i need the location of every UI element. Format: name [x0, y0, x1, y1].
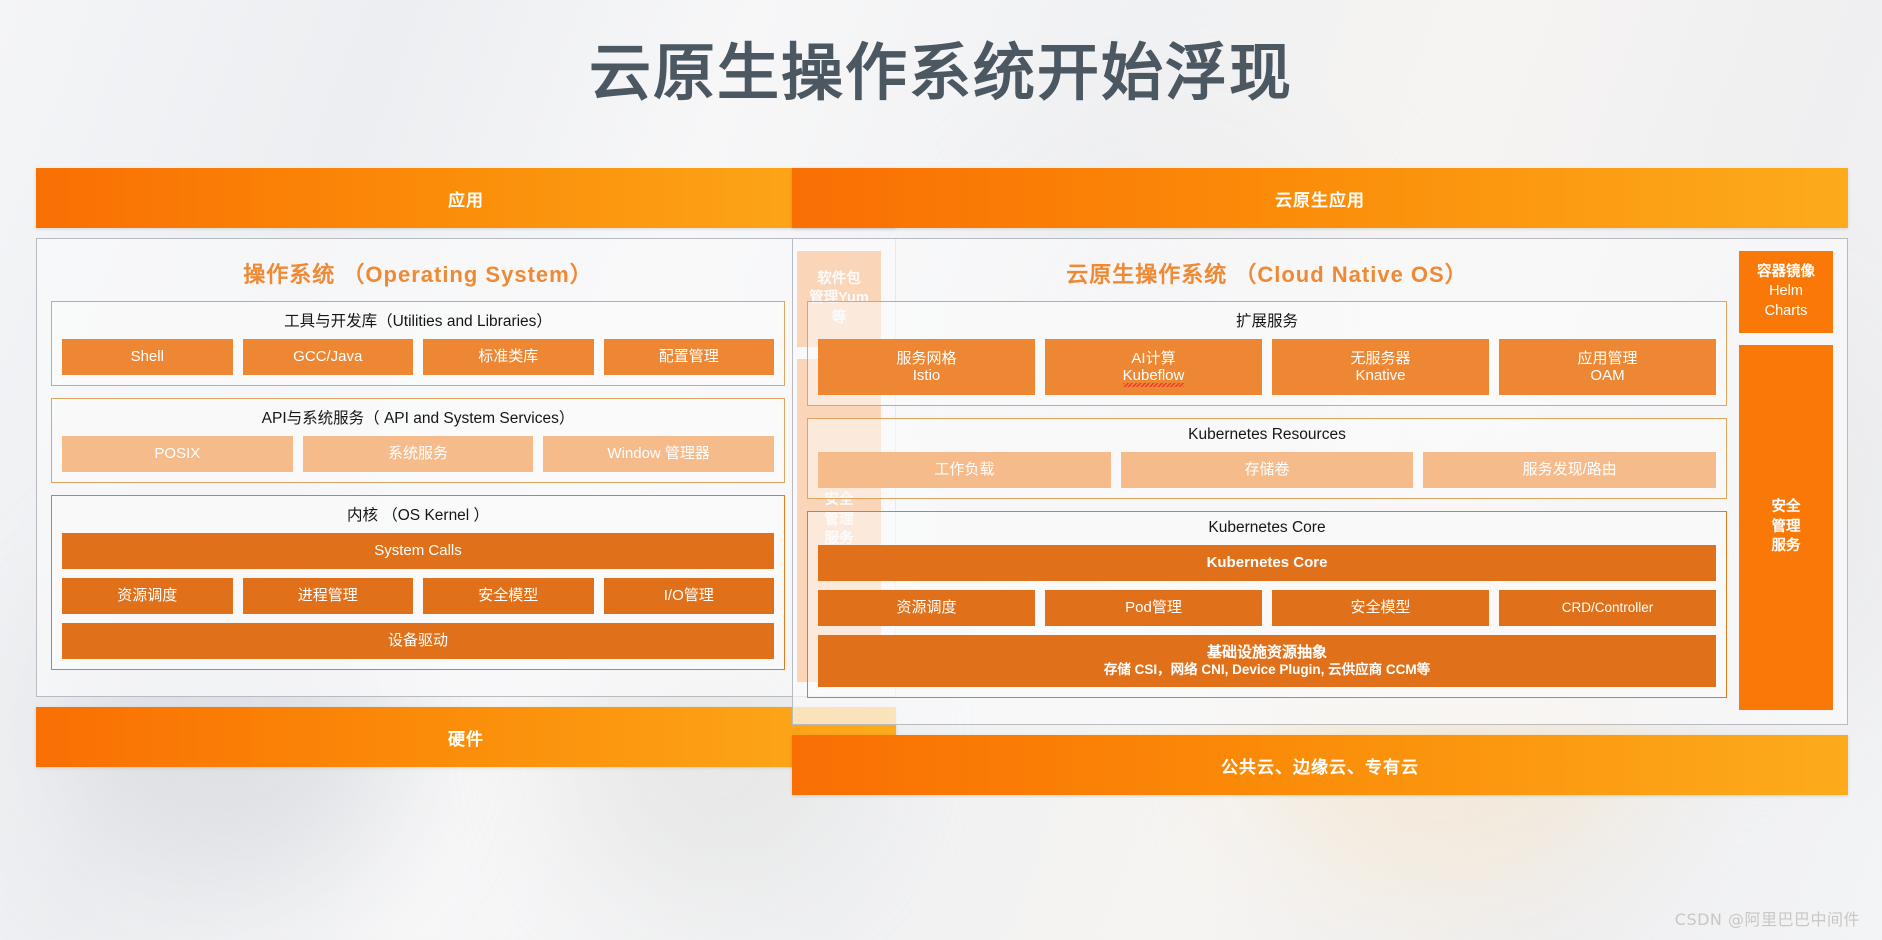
chip-process-management[interactable]: 进程管理 [243, 578, 414, 614]
left-os-container: 操作系统 （Operating System） 工具与开发库（Utilities… [36, 238, 896, 697]
chip-system-calls[interactable]: System Calls [62, 533, 774, 569]
watermark: CSDN @阿里巴巴中间件 [1675, 906, 1860, 930]
left-bottom-bar-label: 硬件 [448, 725, 484, 750]
row-k8s-core-modules: 资源调度 Pod管理 安全模型 CRD/Controller [818, 590, 1716, 626]
chip-infrastructure-resource-abstraction[interactable]: 基础设施资源抽象 存储 CSI，网络 CNI, Device Plugin, 云… [818, 635, 1716, 687]
right-os-main: 云原生操作系统 （Cloud Native OS） 扩展服务 服务网格 Isti… [807, 251, 1727, 710]
right-panel-cloud-native-os: 云原生应用 云原生操作系统 （Cloud Native OS） 扩展服务 服务网… [792, 168, 1848, 795]
chip-system-services[interactable]: 系统服务 [303, 436, 534, 472]
side-box-container-image[interactable]: 容器镜像 Helm Charts [1739, 251, 1833, 333]
side-security-line3-right: 服务 [1772, 537, 1801, 557]
slide-canvas: 云原生操作系统开始浮现 应用 操作系统 （Operating System） 工… [0, 0, 1882, 940]
right-os-heading: 云原生操作系统 （Cloud Native OS） [807, 257, 1727, 289]
left-os-heading: 操作系统 （Operating System） [51, 257, 785, 289]
chip-app-management-line1: 应用管理 [1577, 350, 1637, 367]
chip-io-management[interactable]: I/O管理 [604, 578, 775, 614]
side-image-line3: Charts [1765, 302, 1808, 322]
side-security-line2-right: 管理 [1772, 518, 1801, 538]
chip-serverless-line2: Knative [1355, 367, 1405, 384]
chip-app-management-oam[interactable]: 应用管理 OAM [1499, 339, 1716, 395]
row-utilities: Shell GCC/Java 标准类库 配置管理 [62, 339, 774, 375]
chip-serverless-line1: 无服务器 [1350, 350, 1410, 367]
left-os-main: 操作系统 （Operating System） 工具与开发库（Utilities… [51, 251, 785, 682]
chip-security-model[interactable]: 安全模型 [423, 578, 594, 614]
row-system-calls: System Calls [62, 533, 774, 569]
chip-storage-volume[interactable]: 存储卷 [1121, 452, 1414, 488]
chip-resource-scheduling-k8s[interactable]: 资源调度 [818, 590, 1035, 626]
chip-infra-line2: 存储 CSI，网络 CNI, Device Plugin, 云供应商 CCM等 [1104, 662, 1430, 678]
row-k8s-core-bar: Kubernetes Core [818, 545, 1716, 581]
row-k8s-resources: 工作负载 存储卷 服务发现/路由 [818, 452, 1716, 488]
side-security-line1-right: 安全 [1772, 498, 1801, 518]
chip-resource-scheduling[interactable]: 资源调度 [62, 578, 233, 614]
row-kernel-modules: 资源调度 进程管理 安全模型 I/O管理 [62, 578, 774, 614]
chip-shell[interactable]: Shell [62, 339, 233, 375]
chip-service-mesh-line2: Istio [913, 367, 941, 384]
side-image-line1: 容器镜像 [1757, 263, 1815, 283]
chip-pod-management[interactable]: Pod管理 [1045, 590, 1262, 626]
side-image-line2: Helm [1769, 282, 1803, 302]
chip-device-drivers[interactable]: 设备驱动 [62, 623, 774, 659]
chip-app-management-line2: OAM [1590, 367, 1624, 384]
chip-posix[interactable]: POSIX [62, 436, 293, 472]
right-os-container: 云原生操作系统 （Cloud Native OS） 扩展服务 服务网格 Isti… [792, 238, 1848, 725]
left-top-bar-label: 应用 [448, 186, 484, 211]
chip-kubernetes-core[interactable]: Kubernetes Core [818, 545, 1716, 581]
side-box-security-management-right[interactable]: 安全 管理 服务 [1739, 345, 1833, 710]
page-title: 云原生操作系统开始浮现 [0, 22, 1882, 112]
group-title-k8s-core: Kubernetes Core [818, 519, 1716, 537]
left-top-bar-application: 应用 [36, 168, 896, 228]
chip-service-mesh-istio[interactable]: 服务网格 Istio [818, 339, 1035, 395]
right-bottom-bar-label: 公共云、边缘云、专有云 [1221, 753, 1419, 778]
row-infrastructure-abstraction: 基础设施资源抽象 存储 CSI，网络 CNI, Device Plugin, 云… [818, 635, 1716, 687]
group-utilities-libraries: 工具与开发库（Utilities and Libraries） Shell GC… [51, 301, 785, 386]
row-api: POSIX 系统服务 Window 管理器 [62, 436, 774, 472]
chip-serverless-knative[interactable]: 无服务器 Knative [1272, 339, 1489, 395]
group-title-extension: 扩展服务 [818, 309, 1716, 331]
row-extension-services: 服务网格 Istio AI计算 Kubeflow 无服务器 Knative [818, 339, 1716, 395]
chip-service-discovery-routing[interactable]: 服务发现/路由 [1423, 452, 1716, 488]
group-title-kernel: 内核 （OS Kernel ） [62, 503, 774, 525]
right-bottom-bar-clouds: 公共云、边缘云、专有云 [792, 735, 1848, 795]
row-device-drivers: 设备驱动 [62, 623, 774, 659]
group-kubernetes-core: Kubernetes Core Kubernetes Core 资源调度 Pod… [807, 511, 1727, 698]
chip-gcc-java[interactable]: GCC/Java [243, 339, 414, 375]
group-title-api: API与系统服务（ API and System Services） [62, 406, 774, 428]
chip-service-mesh-line1: 服务网格 [896, 350, 956, 367]
right-top-bar-label: 云原生应用 [1275, 186, 1365, 211]
chip-ai-compute-line2: Kubeflow [1123, 367, 1185, 384]
chip-config-management[interactable]: 配置管理 [604, 339, 775, 375]
group-kubernetes-resources: Kubernetes Resources 工作负载 存储卷 服务发现/路由 [807, 418, 1727, 499]
group-api-system-services: API与系统服务（ API and System Services） POSIX… [51, 398, 785, 483]
group-os-kernel: 内核 （OS Kernel ） System Calls 资源调度 进程管理 安… [51, 495, 785, 670]
right-top-bar-cloud-native-app: 云原生应用 [792, 168, 1848, 228]
chip-infra-line1: 基础设施资源抽象 [1207, 644, 1327, 661]
left-panel-traditional-os: 应用 操作系统 （Operating System） 工具与开发库（Utilit… [36, 168, 896, 767]
group-title-k8s-resources: Kubernetes Resources [818, 426, 1716, 444]
chip-ai-compute-line1: AI计算 [1131, 350, 1175, 367]
chip-crd-controller[interactable]: CRD/Controller [1499, 590, 1716, 626]
chip-workloads[interactable]: 工作负载 [818, 452, 1111, 488]
chip-ai-compute-kubeflow[interactable]: AI计算 Kubeflow [1045, 339, 1262, 395]
chip-standard-library[interactable]: 标准类库 [423, 339, 594, 375]
group-title-utilities: 工具与开发库（Utilities and Libraries） [62, 309, 774, 331]
right-os-sidebar: 容器镜像 Helm Charts 安全 管理 服务 [1739, 251, 1833, 710]
chip-window-manager[interactable]: Window 管理器 [543, 436, 774, 472]
left-bottom-bar-hardware: 硬件 [36, 707, 896, 767]
chip-security-model-k8s[interactable]: 安全模型 [1272, 590, 1489, 626]
group-extension-services: 扩展服务 服务网格 Istio AI计算 Kubeflow 无服务器 Knati [807, 301, 1727, 406]
